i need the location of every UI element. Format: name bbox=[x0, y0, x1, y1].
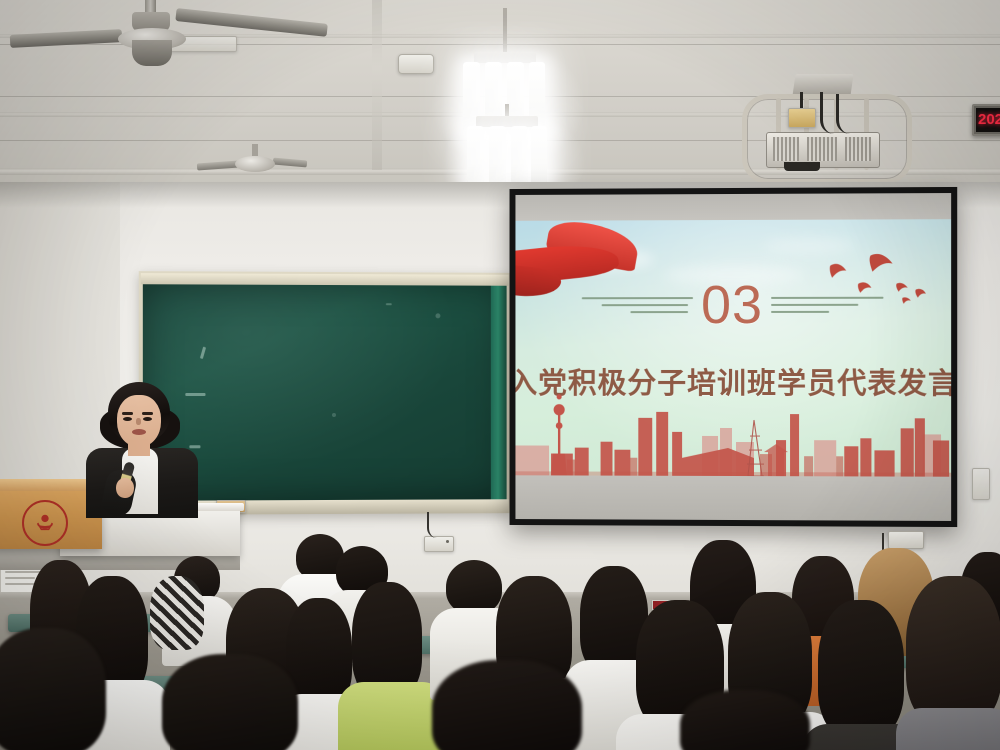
ceiling-lamp-lower bbox=[472, 104, 542, 194]
audience-member bbox=[352, 582, 422, 732]
section-number: 03 bbox=[701, 278, 763, 332]
audience-member-foreground bbox=[0, 628, 106, 750]
audience-member-foreground bbox=[162, 654, 298, 750]
audience-member-foreground bbox=[432, 660, 582, 750]
speaker-person bbox=[82, 382, 200, 514]
deco-lines-left bbox=[582, 297, 693, 313]
led-display-sign: 202 bbox=[972, 104, 1000, 136]
audience-member bbox=[818, 600, 904, 750]
section-number-row: 03 bbox=[515, 278, 951, 333]
ceiling-lamp-upper bbox=[470, 8, 540, 118]
projection-screen: 03 入党积极分子培训班学员代表发言 bbox=[510, 187, 958, 527]
city-skyline-graphic bbox=[515, 384, 951, 477]
wall-junction-box bbox=[424, 536, 454, 552]
wall-cable bbox=[427, 512, 443, 538]
ceiling-fan-secondary bbox=[195, 150, 305, 186]
oriental-pearl-tower bbox=[551, 394, 567, 475]
led-sign-text: 202 bbox=[978, 111, 1000, 128]
university-emblem-icon bbox=[22, 500, 68, 546]
blackboard-side-panel bbox=[491, 286, 507, 500]
ceiling-projector bbox=[742, 86, 902, 182]
audience-member-foreground bbox=[680, 690, 810, 750]
ceiling-fan bbox=[10, 0, 310, 64]
audience-member bbox=[150, 576, 204, 660]
classroom-scene: 202 bbox=[0, 0, 1000, 750]
audience-member bbox=[906, 576, 1000, 750]
presentation-slide: 03 入党积极分子培训班学员代表发言 bbox=[515, 219, 951, 477]
wall-mount-bracket bbox=[972, 468, 990, 500]
deco-lines-right bbox=[771, 297, 884, 313]
ceiling-sensor bbox=[398, 54, 434, 74]
